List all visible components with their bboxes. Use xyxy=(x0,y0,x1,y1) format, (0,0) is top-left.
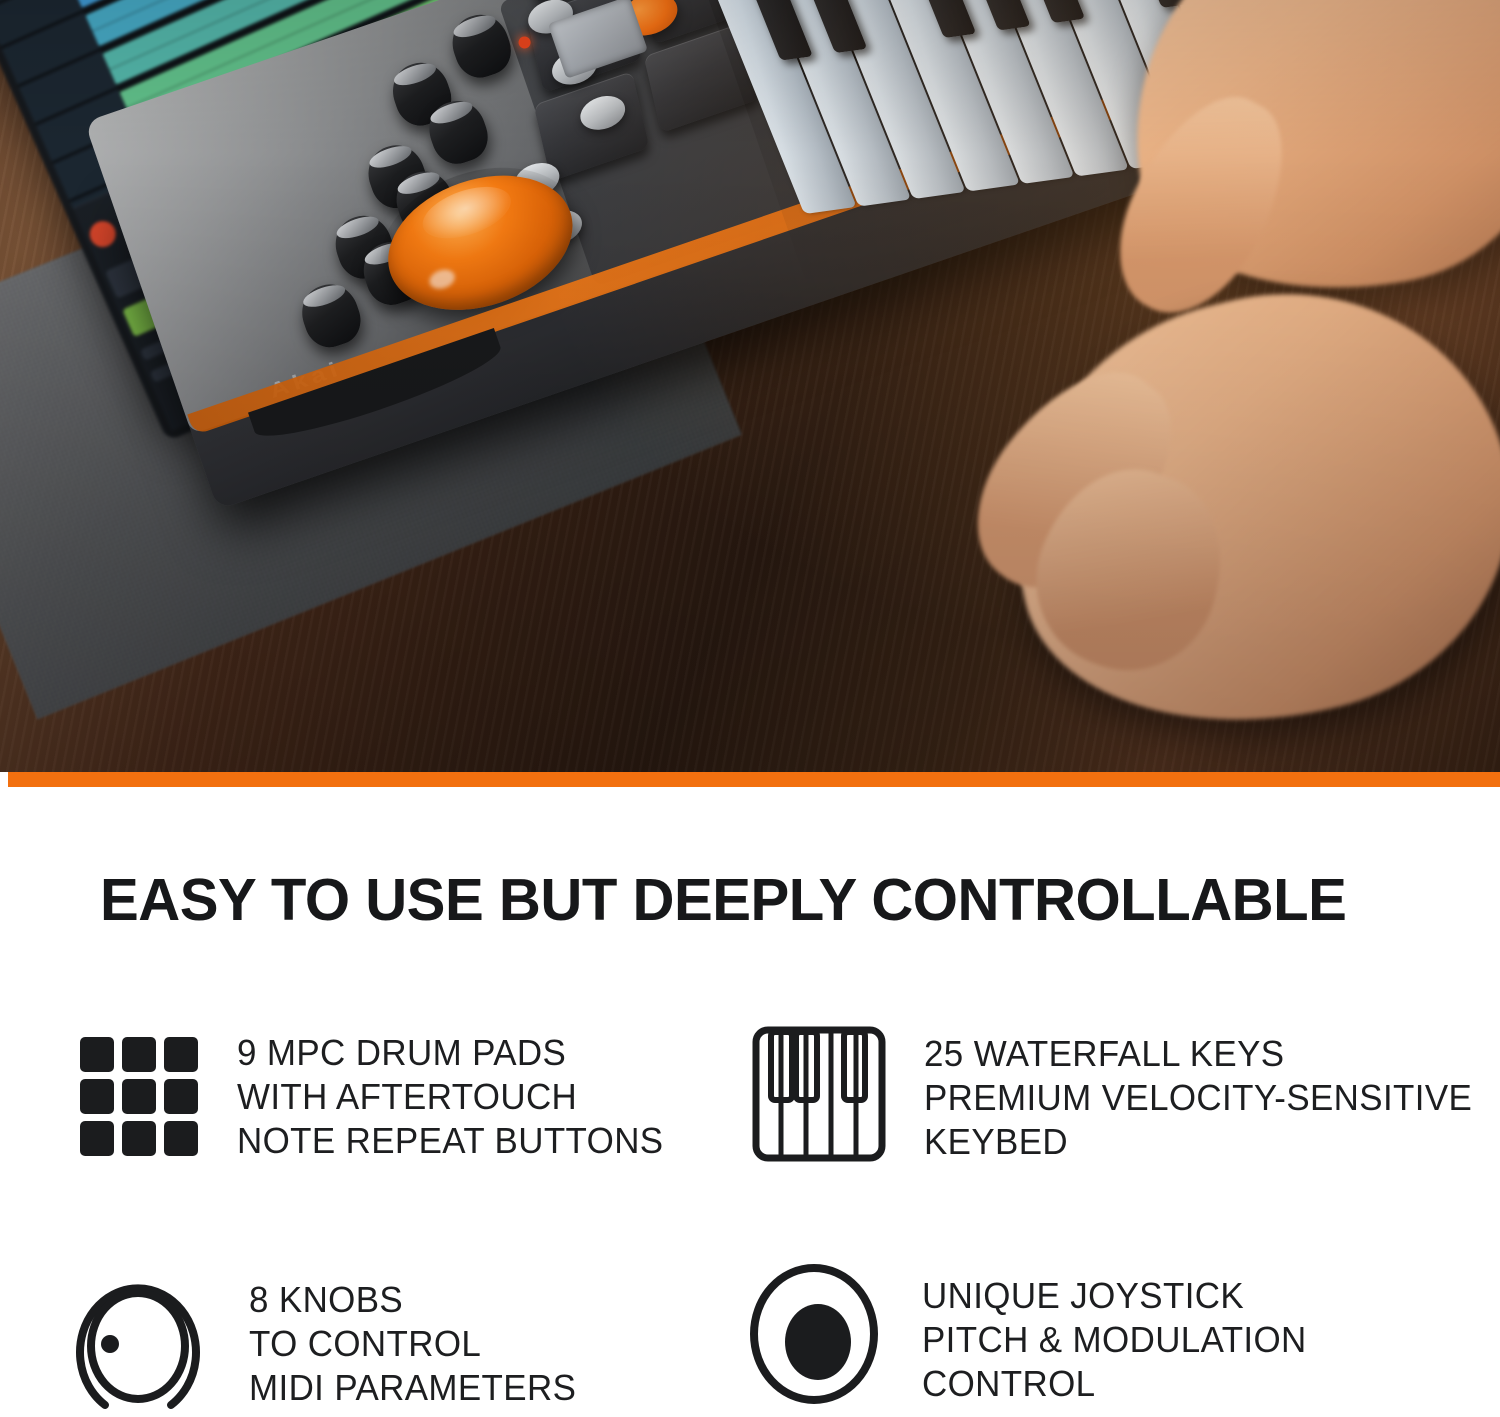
feature-line: WITH AFTERTOUCH xyxy=(237,1075,663,1119)
piano-keys-icon xyxy=(752,1026,886,1162)
feature-line: 9 MPC DRUM PADS xyxy=(237,1031,663,1075)
feature-knobs: 8 KNOBS TO CONTROL MIDI PARAMETERS xyxy=(72,1272,586,1412)
orange-divider-bar xyxy=(8,772,1500,787)
feature-line: 25 WATERFALL KEYS xyxy=(924,1032,1472,1076)
joystick-icon xyxy=(748,1264,884,1402)
feature-line: NOTE REPEAT BUTTONS xyxy=(237,1119,663,1163)
hero-product-photo: Akai BTK-25 xyxy=(0,0,1500,772)
drum-pads-grid-icon xyxy=(80,1031,200,1151)
feature-text-drum-pads: 9 MPC DRUM PADS WITH AFTERTOUCH NOTE REP… xyxy=(237,1031,663,1163)
feature-drum-pads: 9 MPC DRUM PADS WITH AFTERTOUCH NOTE REP… xyxy=(80,1031,677,1163)
page-title: EASY TO USE BUT DEEPLY CONTROLLABLE xyxy=(100,866,1346,934)
feature-text-knobs: 8 KNOBS TO CONTROL MIDI PARAMETERS xyxy=(249,1278,576,1410)
feature-line: TO CONTROL xyxy=(249,1322,576,1366)
feature-line: PITCH & MODULATION xyxy=(922,1318,1307,1362)
feature-line: CONTROL xyxy=(922,1362,1307,1406)
rotary-knob-icon xyxy=(72,1272,204,1412)
feature-text-joystick: UNIQUE JOYSTICK PITCH & MODULATION CONTR… xyxy=(922,1274,1307,1406)
feature-line: PREMIUM VELOCITY-SENSITIVE xyxy=(924,1076,1472,1120)
feature-waterfall-keys: 25 WATERFALL KEYS PREMIUM VELOCITY-SENSI… xyxy=(752,1026,1489,1164)
feature-line: KEYBED xyxy=(924,1120,1472,1164)
feature-joystick: UNIQUE JOYSTICK PITCH & MODULATION CONTR… xyxy=(748,1264,1319,1406)
feature-line: MIDI PARAMETERS xyxy=(249,1366,576,1410)
product-feature-page: Akai BTK-25 xyxy=(0,0,1500,1410)
feature-line: UNIQUE JOYSTICK xyxy=(922,1274,1307,1318)
feature-line: 8 KNOBS xyxy=(249,1278,576,1322)
feature-text-waterfall-keys: 25 WATERFALL KEYS PREMIUM VELOCITY-SENSI… xyxy=(924,1032,1472,1164)
